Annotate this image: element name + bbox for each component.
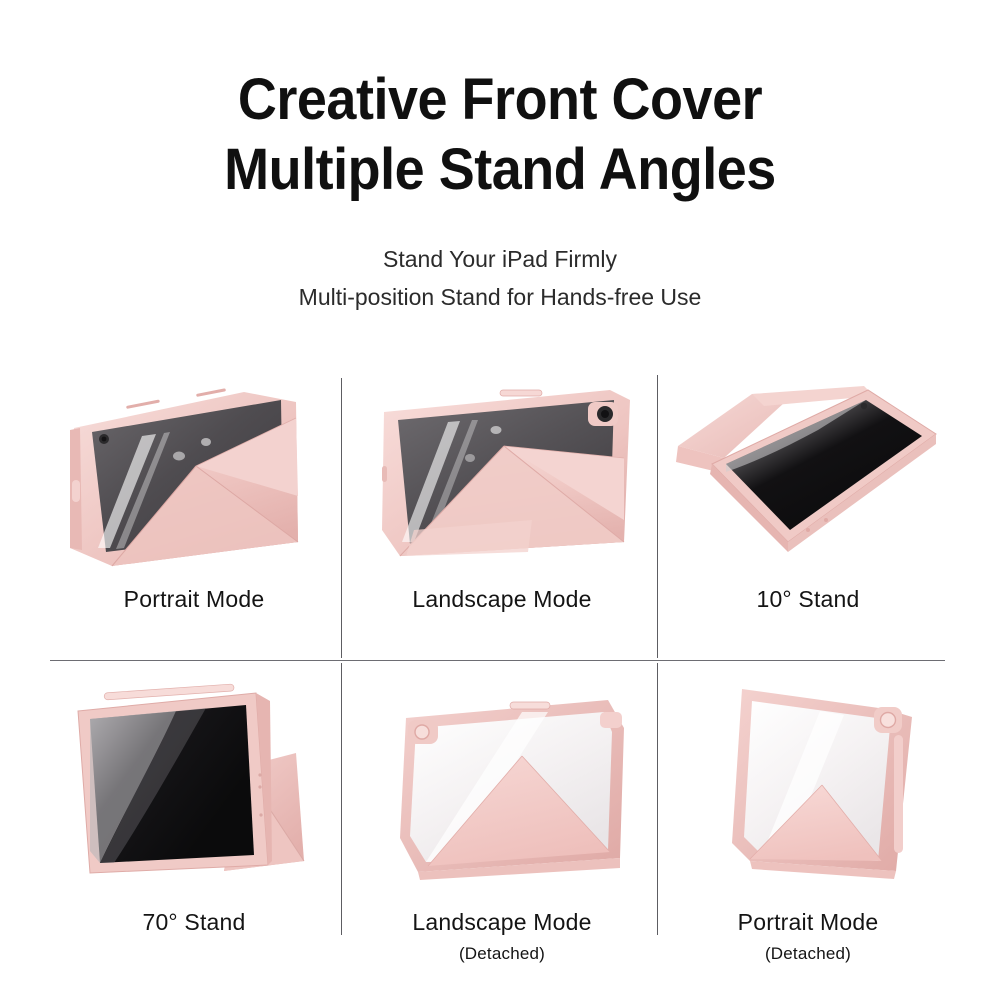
caption-landscape-mode: Landscape Mode: [352, 585, 652, 613]
caption-subtext: (Detached): [668, 942, 948, 966]
product-feature-page: Creative Front Cover Multiple Stand Angl…: [0, 0, 1000, 1000]
caption-70-degree-stand: 70° Stand: [46, 908, 342, 936]
ipad-landscape-stand-pink-icon: [352, 370, 652, 570]
product-image-10-degree-stand: [668, 380, 948, 560]
ipad-10-degree-flat-icon: [668, 380, 948, 560]
caption-text: Portrait Mode: [738, 909, 879, 935]
caption-10-degree-stand: 10° Stand: [668, 585, 948, 613]
product-image-portrait-mode: [46, 370, 341, 570]
header: Creative Front Cover Multiple Stand Angl…: [0, 0, 1000, 316]
subtitle-line1: Stand Your iPad Firmly: [0, 240, 1000, 278]
caption-text: Portrait Mode: [124, 586, 265, 612]
product-image-landscape-detached: [372, 680, 657, 885]
caption-text: 10° Stand: [756, 586, 859, 612]
subtitle-line2: Multi-position Stand for Hands-free Use: [0, 278, 1000, 316]
product-image-portrait-detached: [690, 665, 955, 885]
caption-subtext: (Detached): [352, 942, 652, 966]
product-image-landscape-mode: [352, 370, 652, 570]
grid-vertical-divider-row2-2: [657, 663, 658, 935]
grid-horizontal-divider: [50, 660, 945, 661]
caption-landscape-detached: Landscape Mode (Detached): [352, 908, 652, 966]
grid-vertical-divider-row1-2: [657, 375, 658, 658]
ipad-70-degree-upright-icon: [56, 675, 346, 885]
case-shell-landscape-clear-icon: [372, 680, 657, 885]
grid-vertical-divider-row1-1: [341, 378, 342, 658]
caption-portrait-detached: Portrait Mode (Detached): [668, 908, 948, 966]
page-title-line2: Multiple Stand Angles: [35, 136, 965, 204]
page-title-line1: Creative Front Cover: [35, 66, 965, 134]
ipad-portrait-stand-pink-icon: [46, 370, 341, 570]
caption-text: Landscape Mode: [412, 586, 591, 612]
case-shell-portrait-clear-icon: [690, 665, 955, 885]
caption-text: 70° Stand: [142, 909, 245, 935]
caption-portrait-mode: Portrait Mode: [46, 585, 342, 613]
product-image-70-degree-stand: [56, 675, 346, 885]
caption-text: Landscape Mode: [412, 909, 591, 935]
